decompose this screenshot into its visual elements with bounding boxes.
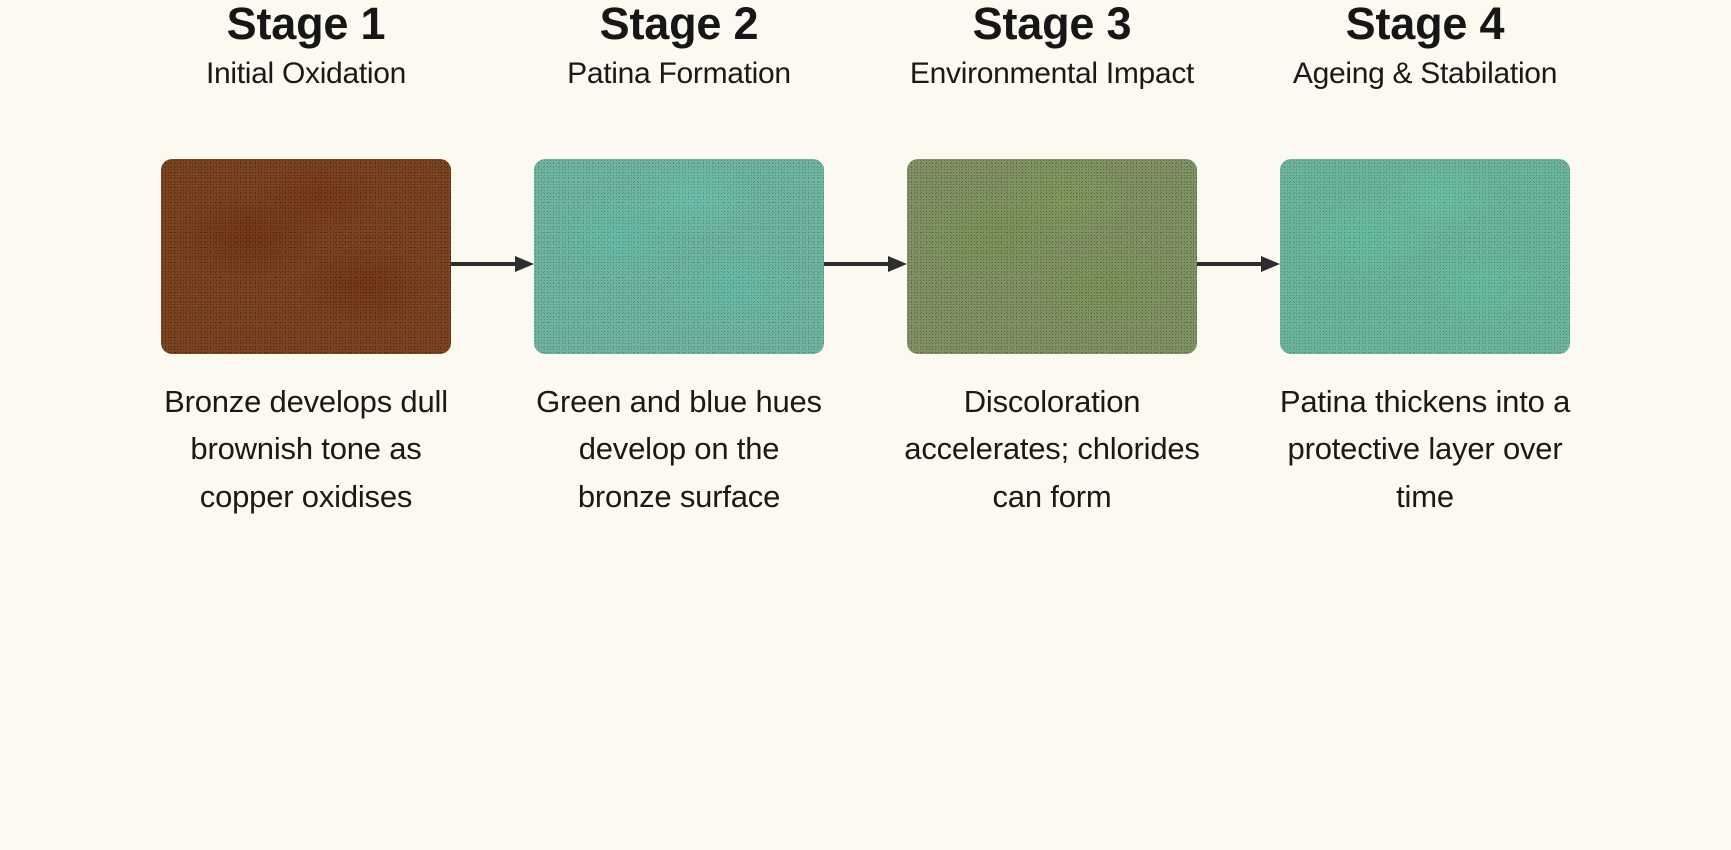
stage-3-heading-block: Stage 3 Environmental Impact <box>910 0 1194 132</box>
stage-card-1: Stage 1 Initial Oxidation Bronze develop… <box>151 0 461 520</box>
stage-card-4: Stage 4 Ageing & Stabilation Patina thic… <box>1270 0 1580 520</box>
stage-card-3: Stage 3 Environmental Impact Discolorati… <box>897 0 1207 520</box>
stage-1-description: Bronze develops dull brownish tone as co… <box>156 378 456 520</box>
swatch-texture-mottle <box>161 159 451 354</box>
stage-1-subtitle: Initial Oxidation <box>206 57 406 90</box>
stage-3-title: Stage 3 <box>973 0 1132 49</box>
stable-patina-swatch <box>1280 159 1570 354</box>
stage-card-2: Stage 2 Patina Formation Green and blue … <box>524 0 834 520</box>
stages-row: Stage 1 Initial Oxidation Bronze develop… <box>0 0 1731 520</box>
stage-3-subtitle: Environmental Impact <box>910 57 1194 90</box>
stage-4-heading-block: Stage 4 Ageing & Stabilation <box>1293 0 1557 132</box>
stage-1-heading-block: Stage 1 Initial Oxidation <box>206 0 406 132</box>
green-blue-patina-swatch <box>534 159 824 354</box>
arrow-right-icon-2 <box>824 253 907 275</box>
arrow-right-icon-3 <box>1197 253 1280 275</box>
stage-4-description: Patina thickens into a protective layer … <box>1275 378 1575 520</box>
stage-2-heading-block: Stage 2 Patina Formation <box>567 0 791 132</box>
swatch-texture-mottle <box>1280 159 1570 354</box>
stage-2-subtitle: Patina Formation <box>567 57 791 90</box>
stage-4-subtitle: Ageing & Stabilation <box>1293 57 1557 90</box>
swatch-texture-mottle <box>534 159 824 354</box>
stage-4-title: Stage 4 <box>1346 0 1505 49</box>
patina-stages-diagram: Stage 1 Initial Oxidation Bronze develop… <box>0 0 1731 850</box>
stage-2-title: Stage 2 <box>600 0 759 49</box>
arrow-right-icon-1 <box>451 253 534 275</box>
swatch-texture-mottle <box>907 159 1197 354</box>
stage-2-description: Green and blue hues develop on the bronz… <box>529 378 829 520</box>
stage-1-title: Stage 1 <box>227 0 386 49</box>
olive-discoloration-swatch <box>907 159 1197 354</box>
stage-3-description: Discoloration accelerates; chlorides can… <box>902 378 1202 520</box>
bronze-brown-swatch <box>161 159 451 354</box>
